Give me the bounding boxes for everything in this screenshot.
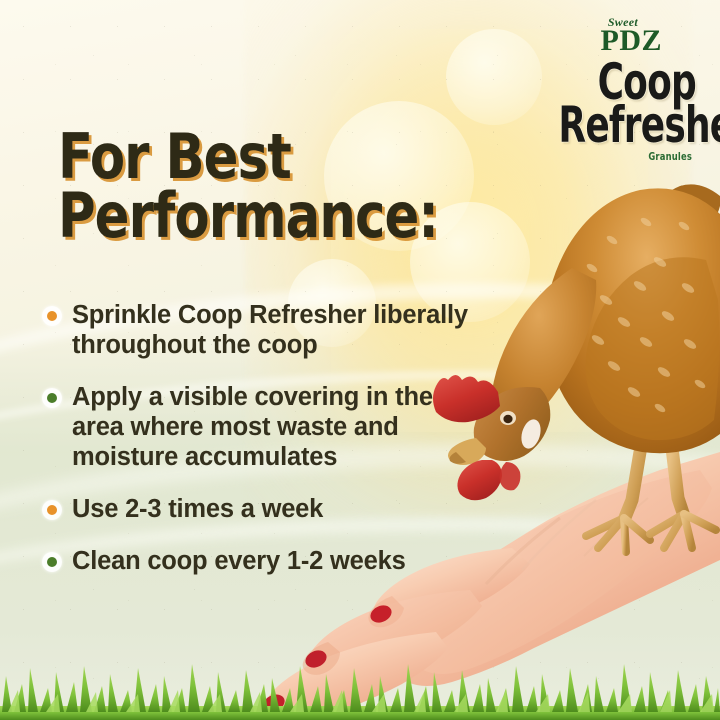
list-item-label: Use 2-3 times a week (72, 494, 323, 524)
bullet-dot-icon (42, 306, 62, 326)
list-item: Sprinkle Coop Refresher liberally throug… (42, 300, 472, 360)
instructions-list: Sprinkle Coop Refresher liberally throug… (42, 300, 472, 599)
bullet-dot-fill-2 (47, 505, 57, 515)
logo-pdz-text: PDZ (524, 26, 662, 56)
logo-refresher-text: Refresher (558, 100, 696, 150)
bullet-dot-fill-3 (47, 557, 57, 567)
logo-granules-text: Granules (549, 151, 692, 162)
bullet-dot-icon (42, 500, 62, 520)
list-item-label: Apply a visible covering in the area whe… (72, 382, 472, 472)
bullet-dot-icon (42, 552, 62, 572)
list-item: Clean coop every 1-2 weeks (42, 546, 472, 576)
list-item-label: Clean coop every 1-2 weeks (72, 546, 406, 576)
bullet-dot-fill-1 (47, 393, 57, 403)
bullet-dot-icon (42, 388, 62, 408)
brand-logo: Sweet PDZ Coop Refresher Granules (524, 16, 696, 162)
list-item-label: Sprinkle Coop Refresher liberally throug… (72, 300, 472, 360)
list-item: Use 2-3 times a week (42, 494, 472, 524)
list-item: Apply a visible covering in the area whe… (42, 382, 472, 472)
page-title: For Best Performance: (58, 128, 471, 246)
poster-canvas: Sweet PDZ Coop Refresher Granules For Be… (0, 0, 720, 720)
bullet-dot-fill-0 (47, 311, 57, 321)
headline-line-2: Performance: (58, 187, 438, 246)
